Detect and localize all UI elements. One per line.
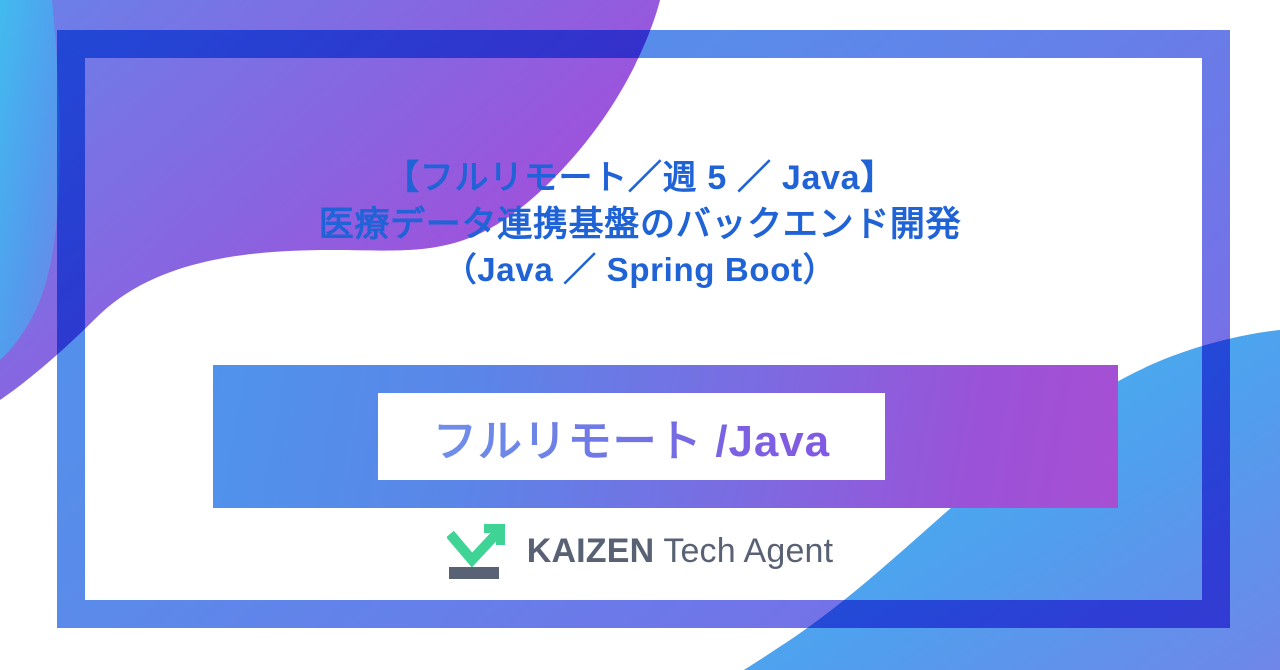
badge-box: フルリモート /Java bbox=[378, 393, 885, 480]
growth-arrow-icon bbox=[447, 520, 513, 582]
headline-line-3: （Java ／ Spring Boot） bbox=[0, 248, 1280, 292]
promo-card: 【フルリモート／週 5 ／ Java】 医療データ連携基盤のバックエンド開発 （… bbox=[0, 0, 1280, 670]
headline-line-1: 【フルリモート／週 5 ／ Java】 bbox=[0, 156, 1280, 202]
brand-wordmark: KAIZEN Tech Agent bbox=[527, 534, 834, 568]
brand-name-light: Tech Agent bbox=[663, 534, 833, 568]
headline-line-2: 医療データ連携基盤のバックエンド開発 bbox=[0, 202, 1280, 249]
badge-label: フルリモート /Java bbox=[433, 405, 830, 469]
headline: 【フルリモート／週 5 ／ Java】 医療データ連携基盤のバックエンド開発 （… bbox=[0, 156, 1280, 293]
brand-logo: KAIZEN Tech Agent bbox=[0, 520, 1280, 582]
brand-name-bold: KAIZEN bbox=[527, 534, 655, 568]
